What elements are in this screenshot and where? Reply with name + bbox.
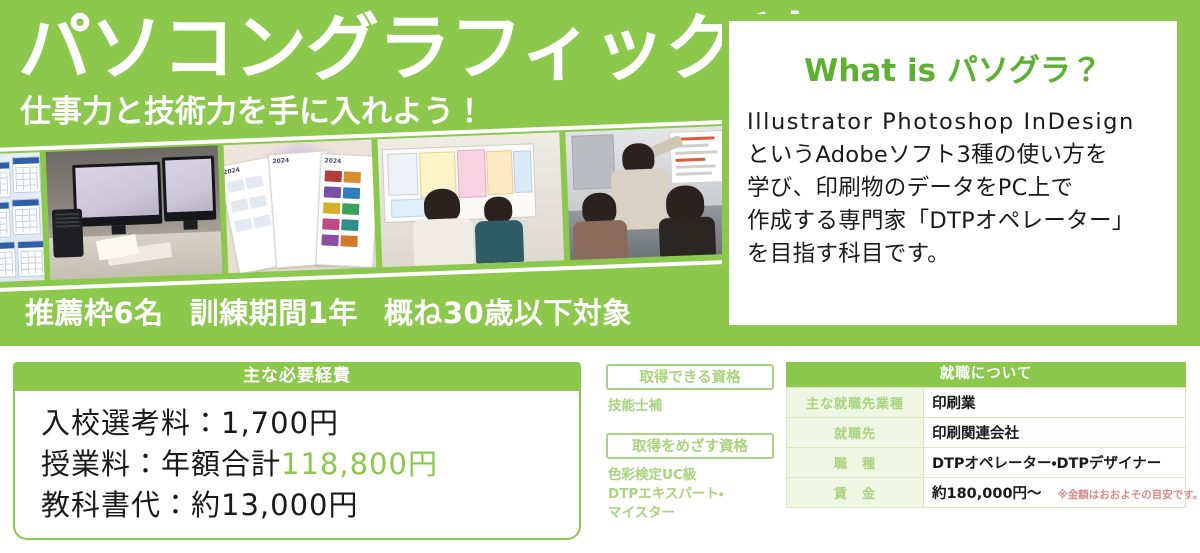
student-body-2 (475, 220, 525, 264)
cost-label-3: 教科書代：約13,000円 (41, 488, 358, 522)
what-is-line-4: 作成する専門家「DTPオペレーター」 (747, 205, 1159, 238)
cost-panel: 主な必要経費 入校選考料：1,700円 授業料：年額合計118,800円 教科書… (13, 362, 581, 540)
photo-list: 2024 2024 (0, 126, 730, 283)
employment-table: 主な就職先業種 印刷業 就職先 印刷関連会社 職 種 DTPオペレーター・DTP… (786, 387, 1186, 508)
employment-key-industry: 主な就職先業種 (787, 388, 924, 418)
employment-panel-header: 就職について (786, 362, 1186, 387)
photo-students-viewing-poster-board (377, 132, 564, 267)
monitor-left (72, 162, 162, 227)
photo-calendar-sheets-blue (0, 152, 45, 282)
what-is-line-2: というAdobeソフト3種の使い方を (747, 139, 1159, 172)
qualifications-obtainable-header: 取得できる資格 (606, 364, 774, 390)
qualification-item: DTPエキスパート・ (608, 485, 774, 504)
cost-line-textbooks: 教科書代：約13,000円 (41, 485, 579, 526)
qualification-item: 色彩検定UC級 (608, 466, 774, 485)
employment-value-wage: 約180,000円〜 (932, 486, 1042, 502)
qualifications-target-header: 取得をめざす資格 (606, 433, 774, 459)
stat-training-period: 訓練期間1年 (190, 296, 358, 330)
photo-computer-workstation (46, 145, 223, 280)
qualification-item: 技能士補 (608, 397, 774, 416)
qualifications-obtainable-list: 技能士補 (608, 397, 774, 416)
student-head-2 (484, 196, 513, 223)
calendar-sheet-3: 2024 (315, 153, 376, 268)
photo-colorful-calendar-designs: 2024 2024 (224, 140, 377, 274)
what-is-line-1: Illustrator Photoshop InDesign (747, 106, 1159, 139)
employment-key-jobtype: 職 種 (787, 448, 924, 478)
photo-strip: 2024 2024 (0, 125, 742, 289)
employment-value-industry: 印刷業 (924, 388, 1186, 418)
cost-panel-header: 主な必要経費 (13, 362, 581, 391)
qualifications-target-list: 色彩検定UC級 DTPエキスパート・ マイスター (608, 466, 774, 523)
cost-label-1: 入校選考料：1,700円 (41, 406, 339, 440)
table-row: 職 種 DTPオペレーター・DTPデザイナー (787, 448, 1186, 478)
program-stats: 推薦枠6名訓練期間1年概ね30歳以下対象 (25, 296, 632, 330)
table-row: 就職先 印刷関連会社 (787, 418, 1186, 448)
student-body-4 (659, 216, 716, 256)
what-is-title: What is パソグラ？ (747, 45, 1159, 90)
stat-age-requirement: 概ね30歳以下対象 (384, 296, 632, 330)
what-is-line-3: 学び、印刷物のデータをPC上で (747, 172, 1159, 205)
qualifications-panel: 取得できる資格 技能士補 取得をめざす資格 色彩検定UC級 DTPエキスパート・… (606, 364, 774, 544)
employment-value-wage-cell: 約180,000円〜※金額はおおよその目安です。 (924, 478, 1186, 508)
cost-line-tuition: 授業料：年額合計118,800円 (41, 444, 579, 485)
page-subtitle: 仕事力と技術力を手に入れよう！ (20, 94, 485, 130)
student-body-3 (573, 220, 628, 260)
qualification-item: マイスター (608, 504, 774, 523)
what-is-body: Illustrator Photoshop InDesign というAdobeソ… (747, 106, 1159, 271)
photo-instructor-pointing (565, 126, 730, 260)
what-is-panel: What is パソグラ？ Illustrator Photoshop InDe… (722, 14, 1184, 332)
student-body-1 (413, 218, 475, 266)
cost-label-2: 授業料：年額合計 (41, 447, 281, 481)
cost-panel-body: 入校選考料：1,700円 授業料：年額合計118,800円 教科書代：約13,0… (13, 391, 581, 540)
what-is-line-5: を目指す科目です。 (747, 238, 1159, 271)
employment-key-wage: 賃 金 (787, 478, 924, 508)
cost-highlight-tuition: 118,800円 (281, 447, 438, 481)
table-row: 主な就職先業種 印刷業 (787, 388, 1186, 418)
employment-value-employer: 印刷関連会社 (924, 418, 1186, 448)
page-title: パソコングラフィック科 (18, 8, 809, 90)
table-row: 賃 金 約180,000円〜※金額はおおよその目安です。 (787, 478, 1186, 508)
stat-recommendation-slots: 推薦枠6名 (25, 296, 164, 330)
employment-panel: 就職について 主な就職先業種 印刷業 就職先 印刷関連会社 職 種 DTPオペレ… (786, 362, 1186, 542)
cabinet (571, 134, 615, 190)
pc-tower (52, 209, 84, 258)
monitor-right (162, 156, 216, 222)
employment-key-employer: 就職先 (787, 418, 924, 448)
cost-line-entrance-fee: 入校選考料：1,700円 (41, 403, 579, 444)
program-poster: パソコングラフィック科 仕事力と技術力を手に入れよう！ (0, 0, 1200, 553)
employment-wage-note: ※金額はおおよその目安です。 (1058, 489, 1200, 501)
employment-value-jobtype: DTPオペレーター・DTPデザイナー (924, 448, 1186, 478)
